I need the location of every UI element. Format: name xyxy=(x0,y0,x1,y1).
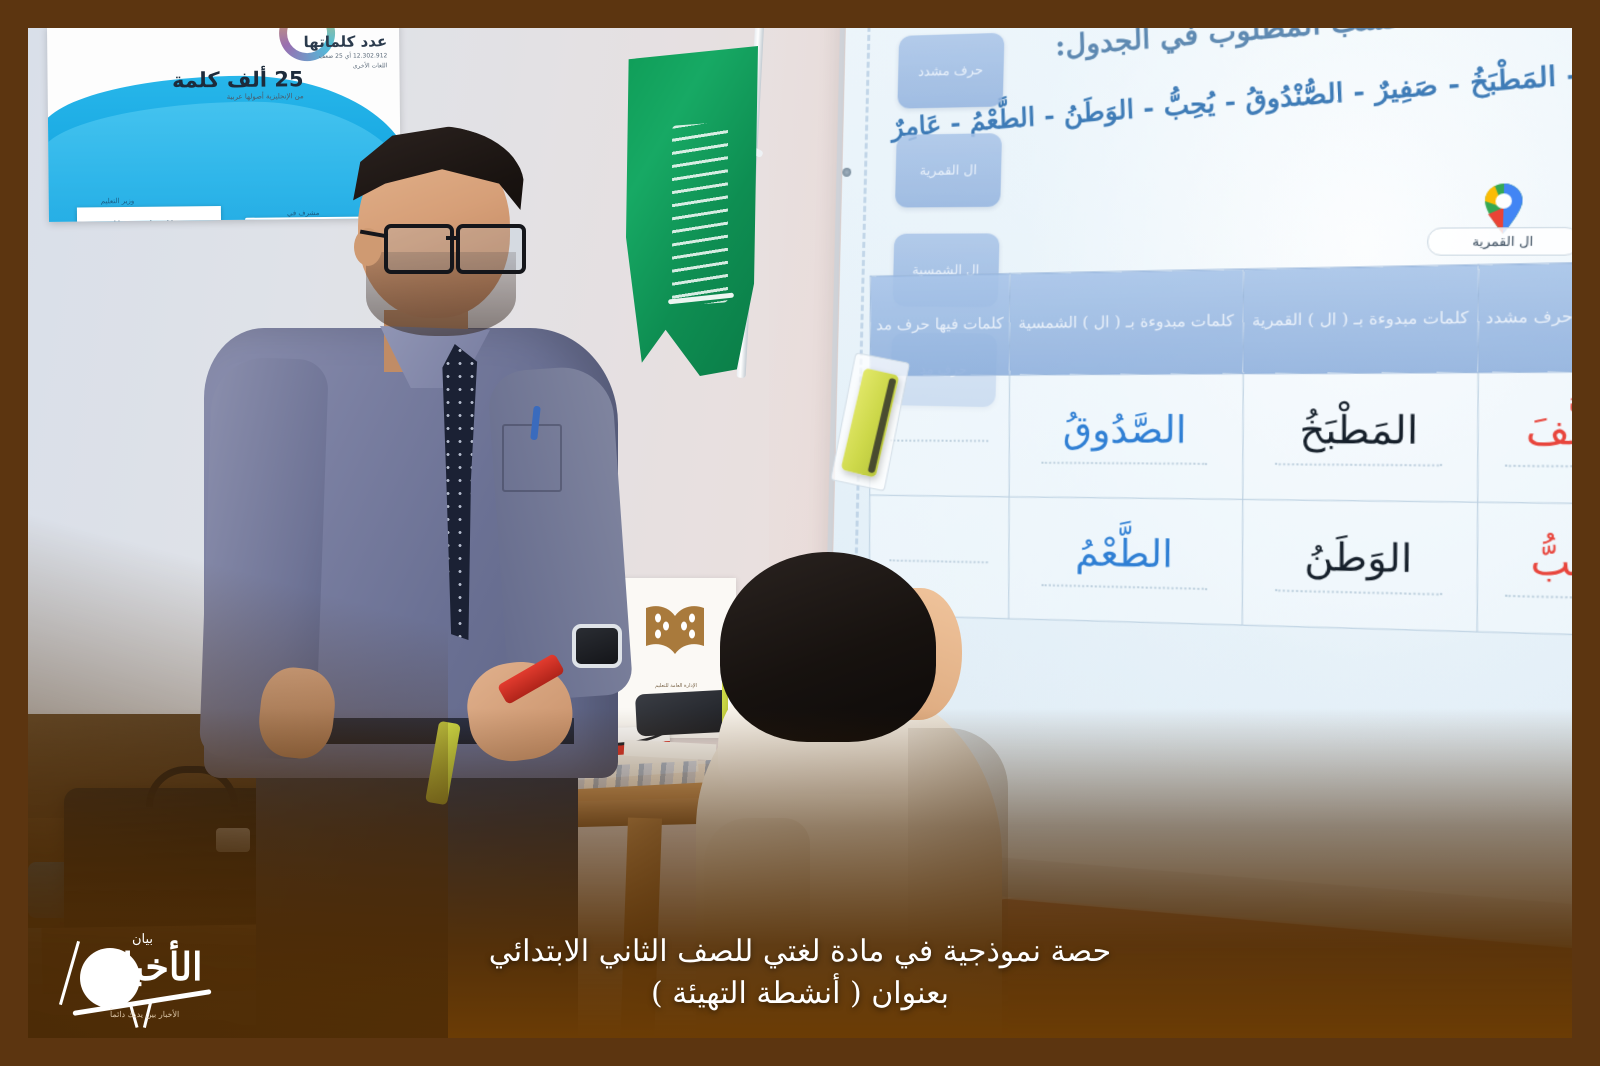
cell-word: يُحِبُّ xyxy=(1530,539,1572,586)
cell-word: الوَطَنُ xyxy=(1304,535,1412,581)
glasses-bridge xyxy=(446,236,458,240)
poster-name-label: وزير التعليم xyxy=(101,197,135,205)
cell-r2-c2: الوَطَنُ xyxy=(1242,499,1477,631)
poster-header-block: عدد كلماتها 12.302.912 أي 25 ضعف اللغات … xyxy=(304,32,388,71)
teacher-glasses-icon xyxy=(384,224,524,268)
classification-table: كلمات فيها حرف مد كلمات مبدوءة بـ ( ال )… xyxy=(869,261,1572,638)
wall-poster: عدد كلماتها 12.302.912 أي 25 ضعف اللغات … xyxy=(47,28,401,222)
saudi-flag-icon xyxy=(626,46,758,376)
screenshot-frame: عدد كلماتها 12.302.912 أي 25 ضعف اللغات … xyxy=(0,0,1600,1066)
glasses-lens-left xyxy=(384,224,454,274)
table-header-row: كلمات فيها حرف مد كلمات مبدوءة بـ ( ال )… xyxy=(870,261,1572,375)
cell-word: نَظَّفَ xyxy=(1526,408,1572,453)
cell-word: الطَّعْمُ xyxy=(1075,532,1173,576)
map-pin-label-al-qamariya: ال القمرية xyxy=(1427,227,1572,256)
poster-count-title: 25 ألف كلمة xyxy=(172,67,304,92)
th-al-shamsiya: كلمات مبدوءة بـ ( ال ) الشمسية xyxy=(1009,269,1243,375)
logo-mast xyxy=(59,941,80,1005)
logo-big-word: الأخبار xyxy=(104,944,203,989)
chip-al-qamariya[interactable]: ال القمرية xyxy=(895,133,1002,207)
cell-word: المَطْبَخُ xyxy=(1299,409,1418,453)
table-row: الصَّدُوقُ المَطْبَخُ نَظَّفَ xyxy=(870,372,1572,505)
cell-word: الصَّدُوقُ xyxy=(1063,409,1187,452)
cell-r1-c2: المَطْبَخُ xyxy=(1243,373,1478,503)
photo-area: عدد كلماتها 12.302.912 أي 25 ضعف اللغات … xyxy=(28,28,1572,1038)
poster-count-block: 25 ألف كلمة من الإنجليزية أصولها عربية xyxy=(172,67,304,101)
glasses-lens-right xyxy=(456,224,526,274)
cell-r2-c1: يُحِبُّ xyxy=(1477,502,1572,637)
poster-header-title: عدد كلماتها xyxy=(304,32,388,51)
poster-header-sub-1: 12.302.912 أي 25 ضعف xyxy=(304,52,388,61)
poster-count-sub: من الإنجليزية أصولها عربية xyxy=(172,92,304,101)
chip-harf-mushaddad[interactable]: حرف مشدد xyxy=(897,33,1004,109)
watermark-logo: بيان الأخبار الأخبار بين يديك دائماً xyxy=(54,926,264,1030)
th-harf-mushaddad: كلمات فيها حرف مشدد xyxy=(1478,261,1572,372)
cell-r2-c3: الطَّعْمُ xyxy=(1009,497,1243,625)
open-book-logo-icon-small xyxy=(638,596,712,672)
th-al-qamariya: كلمات مبدوءة بـ ( ال ) القمرية xyxy=(1243,265,1478,374)
table-row: الطَّعْمُ الوَطَنُ يُحِبُّ xyxy=(869,495,1572,637)
poster-header-sub-2: اللغات الأخرى xyxy=(304,62,388,71)
teacher-smartwatch xyxy=(572,624,622,668)
cell-r1-c3: الصَّدُوقُ xyxy=(1009,374,1243,500)
cell-r1-c1: نَظَّفَ xyxy=(1477,372,1572,505)
map-pin-al-qamariya[interactable]: ال القمرية xyxy=(1483,183,1524,234)
logo-tagline: الأخبار بين يديك دائماً xyxy=(110,1010,179,1019)
flag-shahada-text xyxy=(672,122,728,306)
poster-name-card: عبدالفتاح صالح xyxy=(77,206,221,222)
